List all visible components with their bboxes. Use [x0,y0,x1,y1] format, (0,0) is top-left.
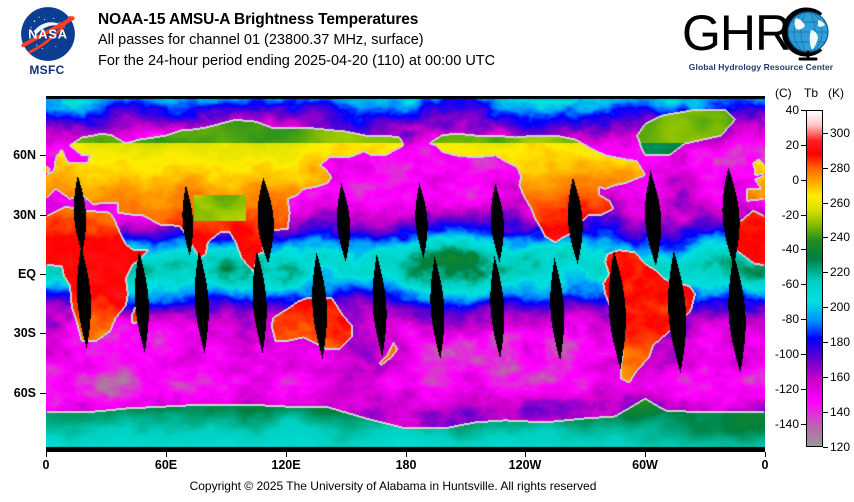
colorbar-tick-kelvin [823,272,828,273]
x-axis-label: 120E [271,458,300,472]
y-axis-label: 60S [14,386,36,400]
nasa-msfc-logo: NASA MSFC [14,6,80,84]
nasa-center-label: MSFC [14,63,80,77]
header: NASA MSFC NOAA-15 AMSU-A Brightness Temp… [0,0,854,88]
x-axis-label: 0 [762,458,769,472]
colorbar-tick-kelvin [823,307,828,308]
x-axis-tick [765,452,766,457]
colorbar-label-celsius: 20 [786,138,799,152]
colorbar-label-celsius: -40 [782,242,799,256]
y-axis-label: 30S [14,326,36,340]
colorbar-label-kelvin: 180 [830,335,850,349]
svg-text:GHR: GHR [682,6,790,61]
x-axis-tick [166,452,167,457]
colorbar-tick-kelvin [823,342,828,343]
x-axis-tick [406,452,407,457]
colorbar-label-kelvin: 280 [830,161,850,175]
colorbar-label-celsius: -20 [782,208,799,222]
colorbar-unit-celsius: (C) [775,86,792,100]
colorbar-label-kelvin: 200 [830,300,850,314]
global-brightness-temperature-map[interactable] [46,96,765,452]
x-axis-tick [286,452,287,457]
colorbar-label-kelvin: 160 [830,370,850,384]
colorbar-tick-kelvin [823,133,828,134]
x-axis-label: 0 [43,458,50,472]
colorbar-label-kelvin: 120 [830,440,850,454]
colorbar-tick-celsius [801,180,806,181]
y-axis-tick [40,155,46,156]
colorbar-tick-kelvin [823,412,828,413]
x-axis-label: 120W [509,458,542,472]
colorbar-gradient [807,111,822,446]
colorbar-label-kelvin: 220 [830,265,850,279]
colorbar-label-celsius: -80 [782,312,799,326]
colorbar[interactable] [806,110,823,447]
colorbar-quantity: Tb [804,86,818,100]
colorbar-label-celsius: 40 [786,103,799,117]
colorbar-tick-celsius [801,319,806,320]
x-axis-label: 60E [155,458,177,472]
colorbar-tick-kelvin [823,377,828,378]
colorbar-tick-celsius [801,424,806,425]
colorbar-label-kelvin: 240 [830,230,850,244]
ghrc-logo: GHR Global Hydrology Resource Center [680,4,840,80]
colorbar-tick-celsius [801,354,806,355]
x-axis-tick [46,452,47,457]
ghrc-wordmark-icon: GHR [680,6,840,64]
nasa-meatball-icon: NASA [20,6,76,62]
colorbar-label-kelvin: 260 [830,196,850,210]
colorbar-tick-celsius [801,215,806,216]
colorbar-tick-kelvin [823,203,828,204]
colorbar-tick-kelvin [823,447,828,448]
colorbar-tick-celsius [801,389,806,390]
map-raster [46,96,765,452]
x-axis-label: 60W [632,458,658,472]
y-axis-tick [40,333,46,334]
colorbar-label-celsius: -60 [782,277,799,291]
page-title: NOAA-15 AMSU-A Brightness Temperatures [98,9,658,30]
period-subtitle: For the 24-hour period ending 2025-04-20… [98,51,658,72]
colorbar-label-kelvin: 140 [830,405,850,419]
x-axis-tick [645,452,646,457]
colorbar-tick-celsius [801,249,806,250]
ghrc-subtitle: Global Hydrology Resource Center [682,62,840,72]
x-axis-tick [525,452,526,457]
colorbar-label-celsius: -100 [775,347,799,361]
y-axis-tick [40,215,46,216]
y-axis-label: EQ [18,267,36,281]
colorbar-tick-celsius [801,284,806,285]
title-block: NOAA-15 AMSU-A Brightness Temperatures A… [98,9,658,72]
x-axis-label: 180 [396,458,417,472]
colorbar-label-celsius: -120 [775,382,799,396]
colorbar-tick-kelvin [823,237,828,238]
colorbar-tick-kelvin [823,168,828,169]
y-axis-tick [40,274,46,275]
colorbar-label-kelvin: 300 [830,126,850,140]
copyright-notice: Copyright © 2025 The University of Alaba… [0,479,786,493]
y-axis-tick [40,393,46,394]
colorbar-label-celsius: 0 [792,173,799,187]
colorbar-unit-kelvin: (K) [828,86,844,100]
y-axis-label: 60N [13,148,36,162]
colorbar-label-celsius: -140 [775,417,799,431]
y-axis-label: 30N [13,208,36,222]
colorbar-tick-celsius [801,110,806,111]
svg-text:NASA: NASA [28,26,68,41]
channel-subtitle: All passes for channel 01 (23800.37 MHz,… [98,30,658,51]
colorbar-tick-celsius [801,145,806,146]
